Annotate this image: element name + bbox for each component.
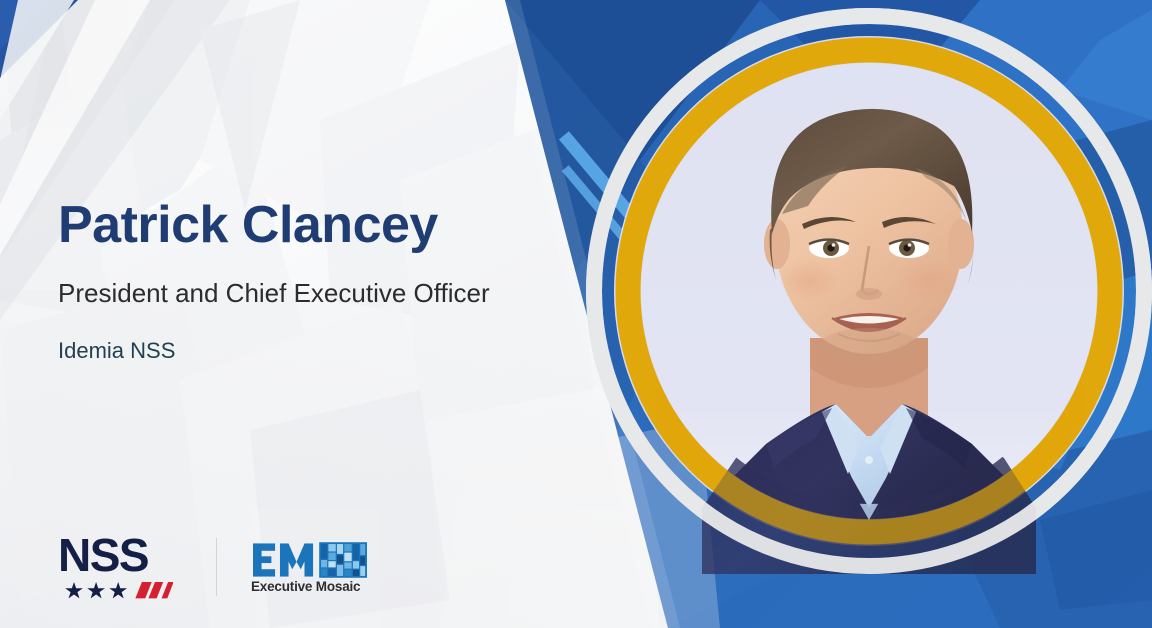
speaker-announcement-banner: Patrick Clancey President and Chief Exec… [0,0,1152,628]
page-title: Patrick Clancey [58,196,578,256]
logo-divider [216,538,217,596]
nss-wordmark: NSS [58,534,148,578]
footer-logos: NSS [58,534,369,600]
person-organization: Idemia NSS [58,338,578,364]
person-job-title: President and Chief Executive Officer [58,278,578,309]
speaker-info-block: Patrick Clancey President and Chief Exec… [58,196,578,364]
nss-logo[interactable]: NSS [58,534,180,600]
em-monogram-icon [251,541,369,579]
em-tagline: Executive Mosaic [251,580,360,594]
executive-mosaic-logo[interactable]: Executive Mosaic [251,541,369,594]
portrait-medallion [586,8,1152,574]
stars-and-stripes-icon [58,582,180,600]
